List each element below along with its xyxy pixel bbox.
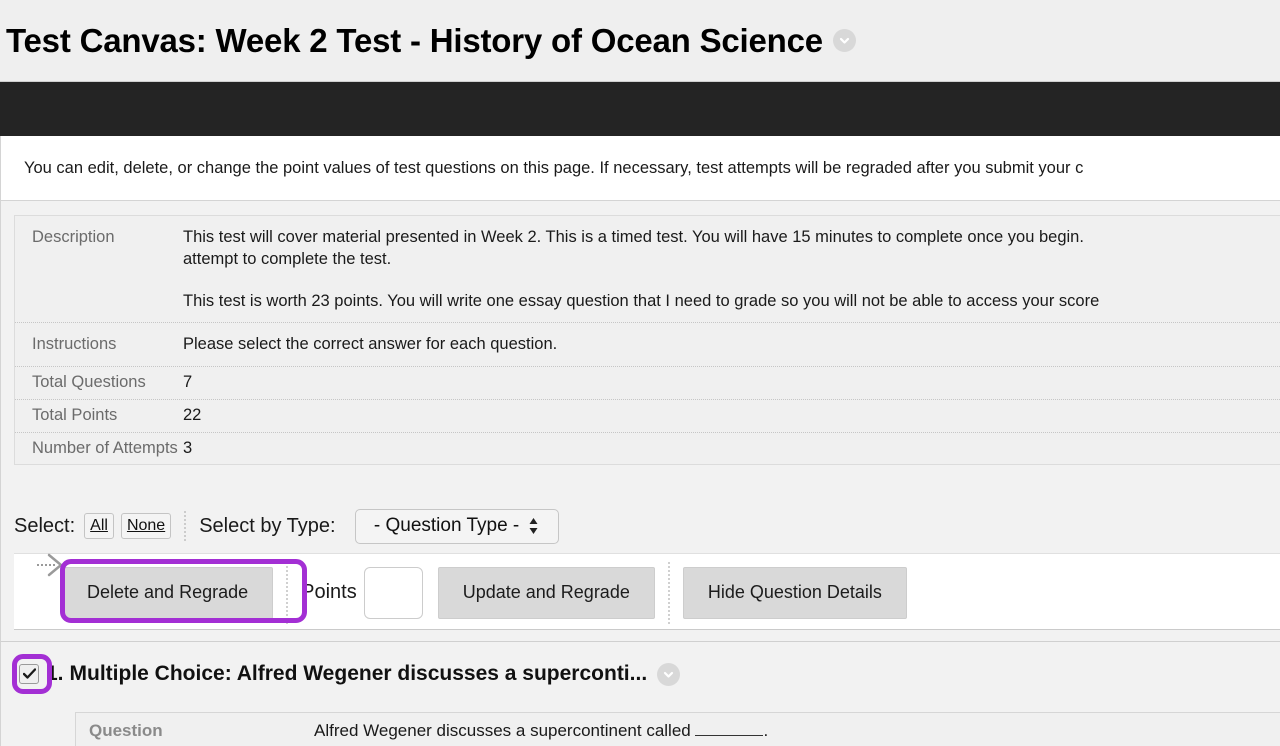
- question-header: 1. Multiple Choice: Alfred Wegener discu…: [19, 662, 680, 686]
- info-strip: You can edit, delete, or change the poin…: [0, 136, 1280, 201]
- detail-label: Instructions: [15, 323, 183, 366]
- question-type-value: - Question Type -: [374, 515, 519, 537]
- table-row: Question Alfred Wegener discusses a supe…: [76, 713, 1280, 746]
- detail-row-instructions: Instructions Please select the correct a…: [15, 322, 1280, 366]
- divider: [184, 511, 186, 541]
- question-type-select[interactable]: - Question Type -: [355, 509, 559, 544]
- select-all-button[interactable]: All: [84, 513, 114, 539]
- question-number: 1.: [46, 662, 64, 686]
- update-and-regrade-button[interactable]: Update and Regrade: [438, 567, 655, 619]
- divider: [286, 562, 288, 624]
- points-input[interactable]: [364, 567, 423, 619]
- detail-row-number-of-attempts: Number of Attempts 3: [15, 432, 1280, 465]
- select-label: Select:: [14, 515, 75, 538]
- test-canvas-page: Test Canvas: Week 2 Test - History of Oc…: [0, 0, 1280, 746]
- info-strip-text: You can edit, delete, or change the poin…: [24, 159, 1083, 178]
- detail-row-total-points: Total Points 22: [15, 399, 1280, 432]
- description-paragraph-2: This test is worth 23 points. You will w…: [183, 291, 1266, 313]
- detail-value: 3: [183, 433, 1280, 465]
- question-row-label: Question: [76, 721, 314, 741]
- detail-row-description: Description This test will cover materia…: [15, 216, 1280, 322]
- select-row: Select: All None Select by Type: - Quest…: [14, 504, 559, 548]
- chevron-down-circle-icon[interactable]: [833, 29, 856, 52]
- up-down-arrows-icon: [528, 517, 539, 535]
- detail-value: 22: [183, 400, 1280, 432]
- detail-row-total-questions: Total Questions 7: [15, 366, 1280, 399]
- page-header: Test Canvas: Week 2 Test - History of Oc…: [0, 0, 1280, 82]
- detail-label: Total Points: [15, 400, 183, 432]
- detail-value: Please select the correct answer for eac…: [183, 323, 1280, 366]
- detail-label: Description: [15, 216, 183, 322]
- question-text-after: .: [763, 721, 768, 740]
- question-toolbar: Delete and Regrade Points Update and Reg…: [14, 553, 1280, 630]
- question-detail-table: Question Alfred Wegener discusses a supe…: [75, 712, 1280, 746]
- delete-and-regrade-button[interactable]: Delete and Regrade: [62, 567, 273, 619]
- select-none-button[interactable]: None: [121, 513, 171, 539]
- hide-question-details-button[interactable]: Hide Question Details: [683, 567, 907, 619]
- divider: [668, 562, 670, 624]
- question-checkbox[interactable]: [19, 664, 39, 684]
- question-title: Multiple Choice: Alfred Wegener discusse…: [70, 662, 648, 686]
- question-block-1: 1. Multiple Choice: Alfred Wegener discu…: [0, 641, 1280, 746]
- blank-underline: [695, 735, 763, 736]
- detail-label: Number of Attempts: [15, 433, 183, 465]
- description-paragraph-1: This test will cover material presented …: [183, 227, 1266, 249]
- description-continued: attempt to complete the test.: [183, 249, 1266, 271]
- points-label: Points: [301, 581, 357, 604]
- chevron-down-circle-icon[interactable]: [657, 663, 680, 686]
- page-title: Test Canvas: Week 2 Test - History of Oc…: [6, 22, 823, 60]
- question-text-before: Alfred Wegener discusses a supercontinen…: [314, 721, 691, 740]
- test-details-table: Description This test will cover materia…: [14, 215, 1280, 465]
- nav-bar: [0, 82, 1280, 136]
- detail-value: 7: [183, 367, 1280, 399]
- question-row-value: Alfred Wegener discusses a supercontinen…: [314, 721, 1280, 741]
- select-by-type-label: Select by Type:: [199, 515, 335, 538]
- detail-label: Total Questions: [15, 367, 183, 399]
- detail-value: This test will cover material presented …: [183, 216, 1280, 322]
